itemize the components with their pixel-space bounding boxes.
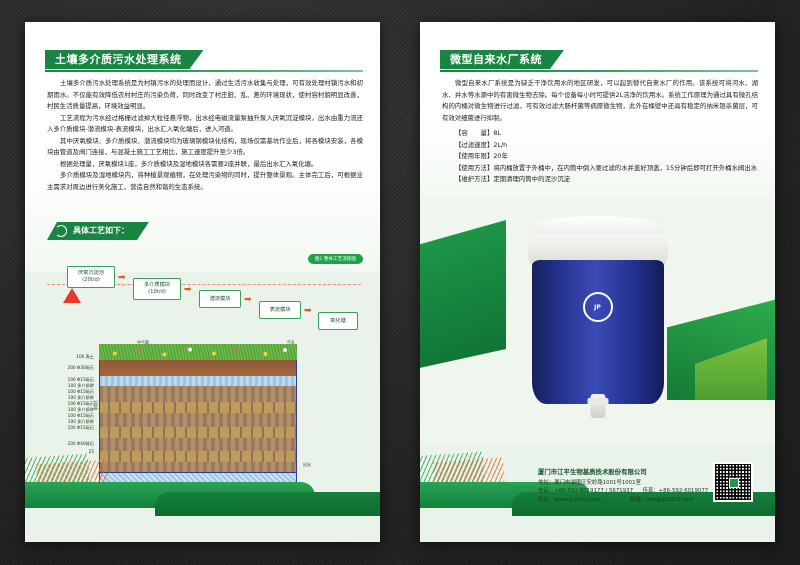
left-section-title: 土壤多介质污水处理系统 <box>45 50 204 69</box>
right-footer-band: 厦门市江平生物基质技术股份有限公司 地址：厦门市湖里区安岭路1001号1001室… <box>420 444 775 542</box>
qr-code[interactable] <box>713 462 753 502</box>
right-section-header: 微型自来水厂系统 <box>440 50 758 72</box>
address-value: 厦门市湖里区安岭路1001号1001室 <box>554 480 641 486</box>
left-footer-band <box>25 444 380 542</box>
left-body-copy: 土壤多介质污水处理系统是为村镇污水的处理而设计，通过生活污水收集与处理，可有效处… <box>47 78 363 193</box>
flow-node-label: 潜流模块 <box>210 296 231 303</box>
fax-value: +86-592-6019077 <box>659 488 709 494</box>
flow-node-label: 多介质模块 <box>144 282 170 289</box>
address-label: 地址： <box>538 480 554 486</box>
email-value[interactable]: info@jp2003.com <box>646 497 693 503</box>
paragraph: 根据处理量，厌氧模块1座，多介质模块及湿地模块各需要2座并联，最后出水汇入氧化塘… <box>47 159 363 171</box>
flow-node: 表流模块 <box>259 301 301 319</box>
fax-label: 传真： <box>642 488 658 494</box>
flow-node-label: 厌氧沉淀池 <box>78 270 104 277</box>
paragraph: 多介质模块及湿地模块内，将种植景观植物，在处理污染物的同时，提升整体景观。主体完… <box>47 170 363 193</box>
flow-arrow: ➡ <box>118 274 126 283</box>
flow-node-label: 表流模块 <box>270 307 291 314</box>
spec-key: 【使用方法】 <box>455 164 493 172</box>
spec-item: 【容 量】8L <box>442 128 758 140</box>
figure-badge-1: 图1 整体工艺流程图 <box>308 254 363 264</box>
flow-marker-triangle <box>63 288 81 303</box>
email-label: 邮箱： <box>630 497 646 503</box>
right-section-title: 微型自来水厂系统 <box>440 50 564 69</box>
company-name: 厦门市江平生物基质技术股份有限公司 <box>538 467 728 476</box>
spec-item: 【维护方法】定期清理内筒中的泥沙沉淀 <box>442 174 758 186</box>
flow-node: 多介质模块 (10t/d) <box>133 278 181 300</box>
contact-address: 地址：厦门市湖里区安岭路1001号1001室 <box>538 479 728 488</box>
bucket-body <box>532 260 664 404</box>
spec-key: 【过滤速度】 <box>455 141 493 149</box>
qr-code-pattern <box>715 464 751 500</box>
spec-value: 定期清理内筒中的泥沙沉淀 <box>493 175 570 183</box>
spec-key: 【容 量】 <box>455 129 493 137</box>
flow-node-label: 氧化塘 <box>330 318 346 325</box>
green-shape-left <box>420 220 506 370</box>
contact-web: 网址：www.jp2003.com 邮箱：info@jp2003.com <box>538 496 728 505</box>
paragraph: 其中厌氧模块、多介质模块、潜流模块均为玻璃钢模块化结构，现场仅需基坑作业后，将各… <box>47 136 363 159</box>
spec-item: 【使用年限】20年 <box>442 151 758 163</box>
left-section-header: 土壤多介质污水处理系统 <box>45 50 363 72</box>
process-flow-diagram: 厌氧沉淀池 (20t/d) ➡ 多介质模块 (10t/d) ➡ 潜流模块 ➡ 表… <box>45 252 363 342</box>
spec-key: 【维护方法】 <box>455 175 493 183</box>
layer-label: 100 表土 <box>41 354 97 360</box>
bucket-logo: JP <box>583 292 613 322</box>
phone-value: +86-592-6019177 / 5671937 <box>554 488 633 494</box>
brochure-page-left: 土壤多介质污水处理系统 土壤多介质污水处理系统是为村镇污水的处理而设计，通过生活… <box>25 22 380 542</box>
spec-value: 2L/h <box>493 141 507 149</box>
footer-band-dark <box>155 492 380 516</box>
paragraph: 土壤多介质污水处理系统是为村镇污水的处理而设计，通过生活污水收集与处理，可有效处… <box>47 78 363 113</box>
layer-label-column: 100 表土 200 Φ30砾石 100 Φ15砾石 100 多介质砖 100 … <box>41 354 97 454</box>
spec-key: 【使用年限】 <box>455 152 493 160</box>
flow-node: 氧化塘 <box>318 312 358 330</box>
right-body-copy: 微型自来水厂系统是为缺乏干净饮用水的地区研发，可以起到替代自来水厂的作用。该系统… <box>442 78 758 186</box>
flow-node: 厌氧沉淀池 (20t/d) <box>67 266 115 288</box>
paragraph: 工艺流程为污水经过格栅过滤掉大粒径悬浮物，出水经电磁流量泵抽升泵入厌氧沉淀模块，… <box>47 113 363 136</box>
flow-node: 潜流模块 <box>199 290 241 308</box>
left-header-rule <box>45 70 363 72</box>
layer-label: 100 Φ15砾石 <box>41 425 97 431</box>
flow-arrow: ➡ <box>184 286 192 295</box>
spec-list: 【容 量】8L 【过滤速度】2L/h 【使用年限】20年 【使用方法】将内桶放置… <box>442 128 758 186</box>
brochure-page-right: 微型自来水厂系统 微型自来水厂系统是为缺乏干净饮用水的地区研发，可以起到替代自来… <box>420 22 775 542</box>
paragraph: 微型自来水厂系统是为缺乏干净饮用水的地区研发，可以起到替代自来水厂的作用。该系统… <box>442 78 758 124</box>
contact-phone: 电话：+86-592-6019177 / 5671937 传真：+86-592-… <box>538 487 728 496</box>
phone-label: 电话： <box>538 488 554 494</box>
spec-item: 【过滤速度】2L/h <box>442 140 758 152</box>
flow-node-sublabel: (20t/d) <box>82 277 100 284</box>
flow-arrow: ➡ <box>244 296 252 305</box>
right-header-rule <box>440 70 758 72</box>
flow-arrow: ➡ <box>304 307 312 316</box>
bucket-spigot-icon <box>590 394 605 418</box>
vegetation-layer <box>99 344 297 360</box>
spec-value: 8L <box>493 129 501 137</box>
website-value[interactable]: www.jp2003.com <box>554 497 600 503</box>
process-banner: 具体工艺如下： <box>47 222 149 240</box>
flow-node-sublabel: (10t/d) <box>148 289 166 296</box>
water-filter-bucket: JP <box>528 216 668 421</box>
layer-label: 200 Φ30砾石 <box>41 365 97 371</box>
contact-block: 厦门市江平生物基质技术股份有限公司 地址：厦门市湖里区安岭路1001号1001室… <box>538 467 728 504</box>
spec-item: 【使用方法】将内桶放置于外桶中，在内筒中倒入要过滤的水并盖好顶盖，15分钟后即可… <box>442 163 758 175</box>
website-label: 网址： <box>538 497 554 503</box>
process-banner-label: 具体工艺如下： <box>73 226 129 235</box>
spec-value: 20年 <box>493 152 508 160</box>
recycle-icon <box>55 225 67 237</box>
spec-value: 将内桶放置于外桶中，在内筒中倒入要过滤的水并盖好顶盖，15分钟后即可打开外桶水阀… <box>493 164 757 172</box>
product-photo-stage: JP <box>420 198 775 444</box>
